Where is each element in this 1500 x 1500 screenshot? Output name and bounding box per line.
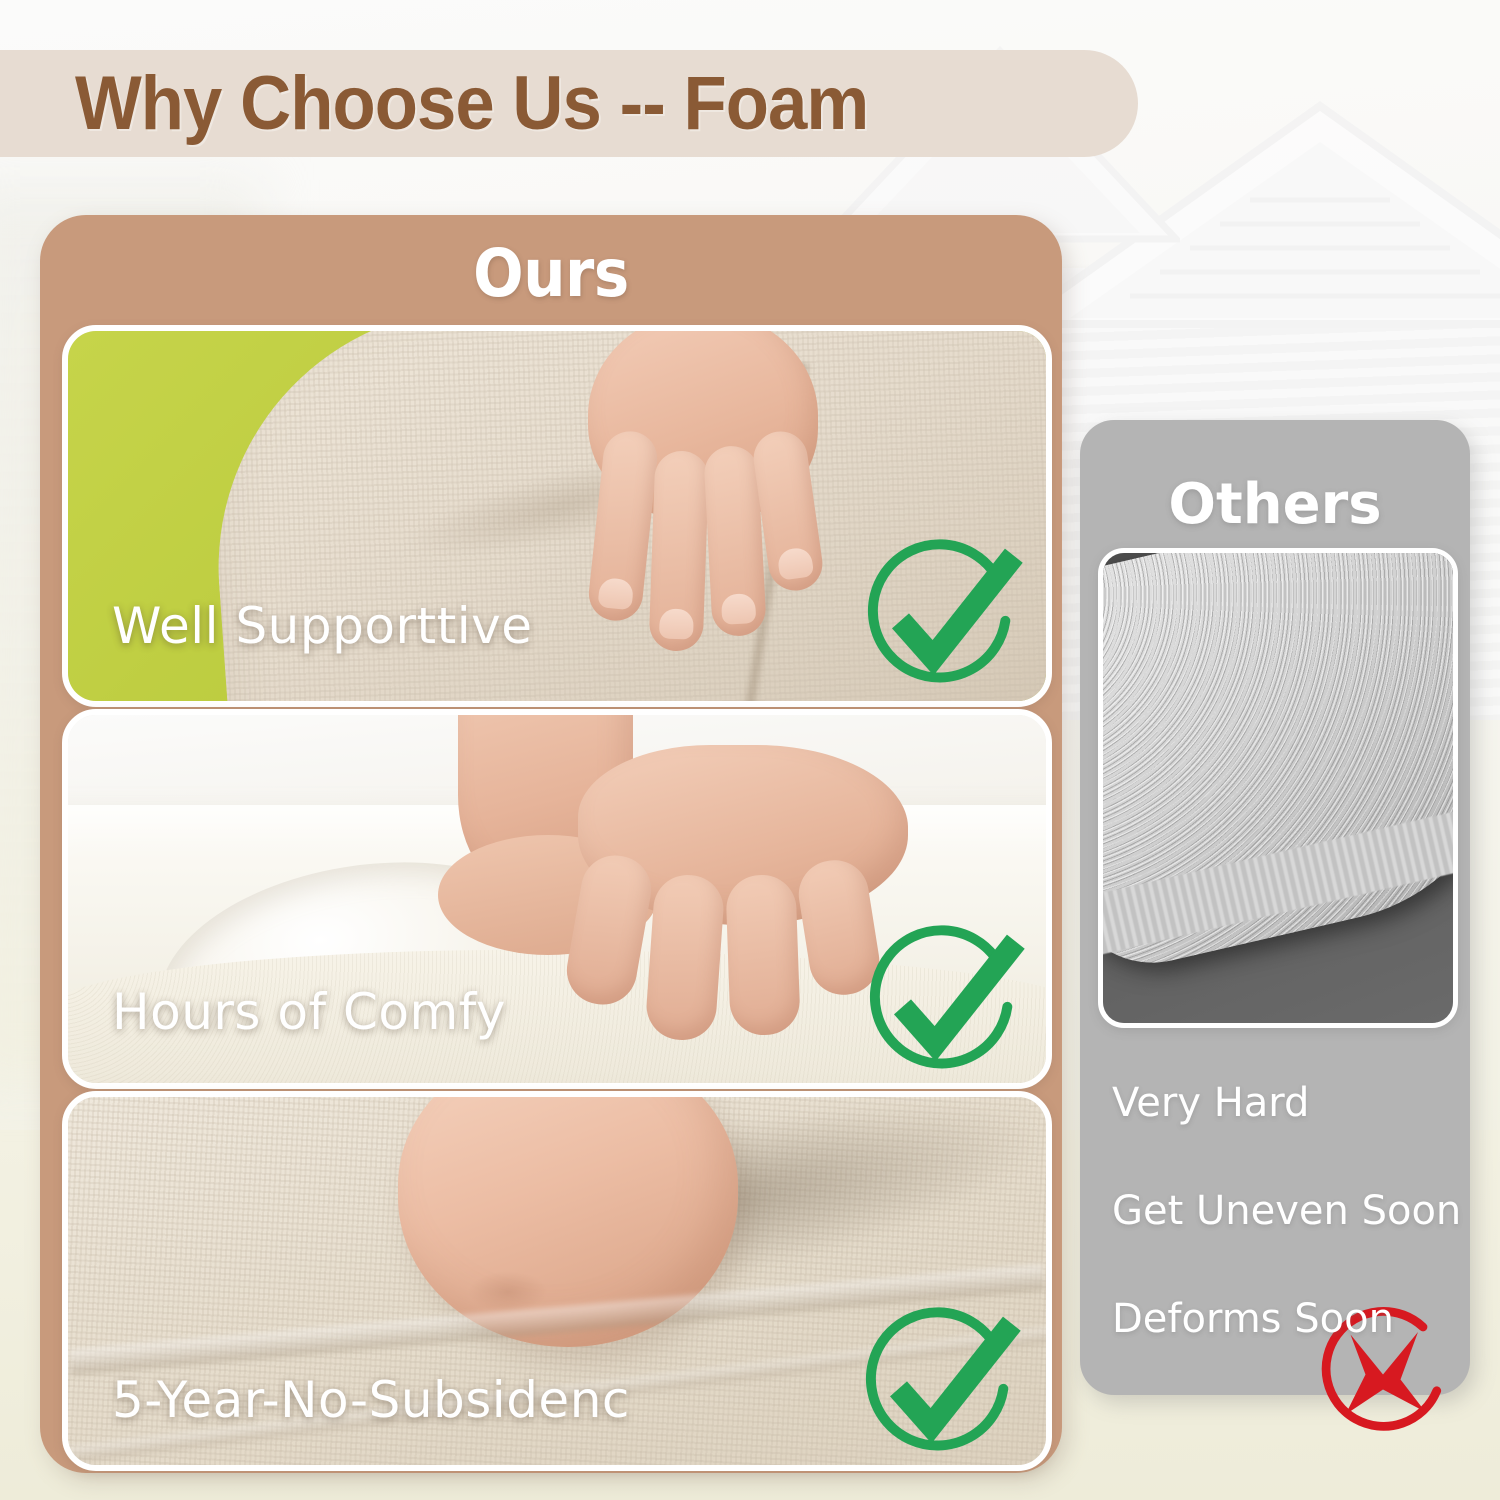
others-item-3: Deforms Soon [1112,1296,1452,1342]
ours-heading: Ours [91,235,1011,312]
photo1-nail-4 [776,546,814,580]
others-panel: Others Very Hard Get Uneven Soon Deforms… [1080,420,1470,1395]
photo1-nail-1 [597,577,634,610]
photo1-nail-2 [659,608,694,639]
others-item-1: Very Hard [1112,1080,1452,1126]
ours-card-2-label: Hours of Comfy [112,983,506,1041]
photo3-knee-dimple [468,1271,548,1313]
photo2-finger-1 [562,850,657,1010]
ours-panel: Ours Well Supporttive [40,215,1062,1473]
ours-card-1[interactable]: Well Supporttive [62,325,1052,707]
photo2-finger-2 [644,873,725,1042]
photo2-finger-3 [725,874,801,1036]
check-circle-icon [860,919,1030,1089]
infographic-canvas: Why Choose Us -- Foam Ours Well Supportt… [0,0,1500,1500]
check-circle-icon [856,1301,1026,1471]
others-item-2: Get Uneven Soon [1112,1188,1452,1234]
ours-card-3[interactable]: 5-Year-No-Subsidenc [62,1091,1052,1471]
ours-card-3-label: 5-Year-No-Subsidenc [112,1371,630,1429]
photo1-finger-2 [649,450,710,652]
others-heading: Others [1080,472,1470,537]
page-title: Why Choose Us -- Foam [75,60,868,147]
photo1-hand [568,331,848,651]
title-banner: Why Choose Us -- Foam [0,50,1138,157]
ours-card-2[interactable]: Hours of Comfy [62,709,1052,1089]
others-photo-card[interactable] [1098,548,1458,1028]
check-circle-icon [858,533,1028,703]
others-drawback-list: Very Hard Get Uneven Soon Deforms Soon [1112,1080,1452,1404]
ours-card-1-label: Well Supporttive [112,597,532,655]
photo1-nail-3 [721,593,757,625]
